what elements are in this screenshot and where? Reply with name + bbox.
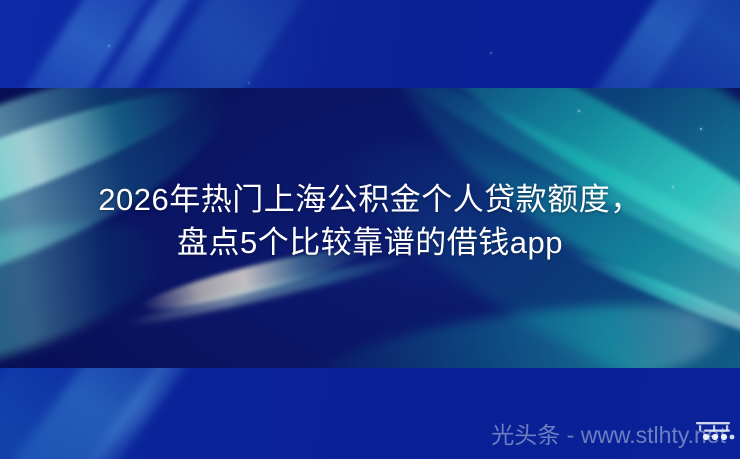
watermark-text: 光头条 - www.stlhty.net [491,424,726,447]
title-line-2: 盘点5个比较靠谱的借钱app [0,221,740,264]
title-line-1: 2026年热门上海公积金个人贷款额度， [0,178,740,221]
top-blue-band [0,0,740,88]
watermark: 光头条 - www.stlhty.net [491,424,726,447]
banner-image: 2026年热门上海公积金个人贷款额度， 盘点5个比较靠谱的借钱app 光头条 -… [0,0,740,459]
top-band-light-streaks [0,0,740,88]
page-title: 2026年热门上海公积金个人贷款额度， 盘点5个比较靠谱的借钱app [0,178,740,264]
